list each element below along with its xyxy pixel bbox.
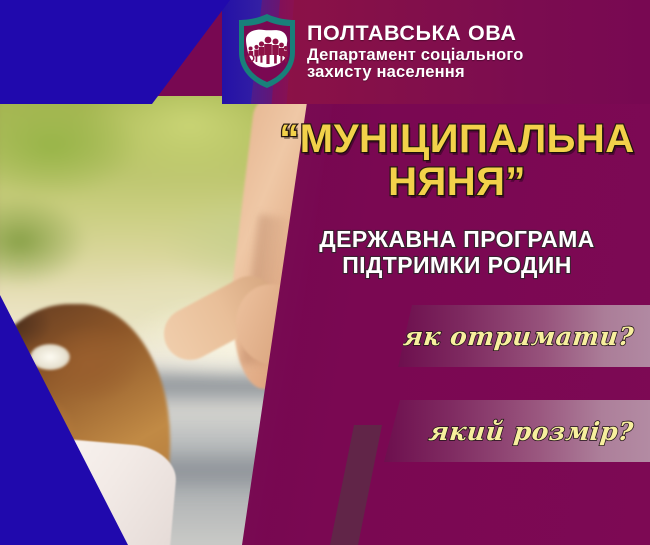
- logo-text-block: ПОЛТАВСЬКА ОВА Департамент соціального з…: [307, 21, 524, 81]
- cta-label-how-to-get: як отримати?: [402, 322, 650, 351]
- cta-label-what-amount: який розмір?: [428, 417, 650, 446]
- poster-root: ПОЛТАВСЬКА ОВА Департамент соціального з…: [0, 0, 650, 545]
- logo-subtitle-line2: захисту населення: [307, 64, 524, 81]
- subhead-line-1: ДЕРЖАВНА ПРОГРАМА: [268, 226, 646, 252]
- headline-block: “МУНІЦИПАЛЬНА НЯНЯ”: [268, 118, 646, 204]
- logo-title: ПОЛТАВСЬКА ОВА: [307, 23, 524, 45]
- shield-icon: [236, 12, 298, 90]
- organization-logo: ПОЛТАВСЬКА ОВА Департамент соціального з…: [236, 12, 524, 90]
- subhead-line-2: ПІДТРИМКИ РОДИН: [268, 252, 646, 278]
- cta-bar-what-amount[interactable]: який розмір?: [384, 400, 650, 462]
- headline-line-1: “МУНІЦИПАЛЬНА: [268, 118, 646, 161]
- logo-subtitle-line1: Департамент соціального: [307, 47, 524, 64]
- headline-line-2: НЯНЯ”: [268, 161, 646, 204]
- subhead-block: ДЕРЖАВНА ПРОГРАМА ПІДТРИМКИ РОДИН: [268, 226, 646, 278]
- cta-bar-how-to-get[interactable]: як отримати?: [398, 305, 650, 367]
